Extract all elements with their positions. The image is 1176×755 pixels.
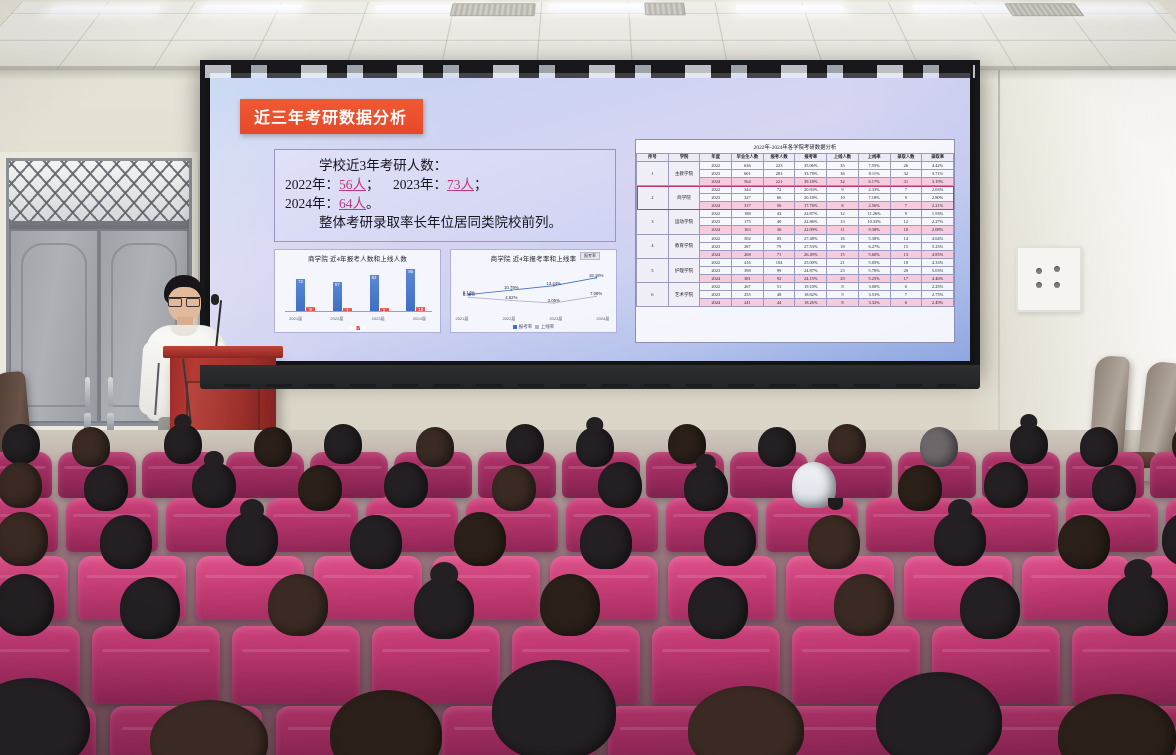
table-cell-admit-rate: 4.46% bbox=[922, 274, 954, 282]
control-knob-icon[interactable] bbox=[1054, 282, 1060, 288]
table-cell-admit-rate: 4.64% bbox=[922, 234, 954, 242]
table-cell-admit-rate: 1.93% bbox=[922, 210, 954, 218]
table-column-header: 上线率 bbox=[858, 154, 890, 162]
legend-swatch-pass-rate bbox=[535, 325, 539, 329]
table-cell-applied: 203 bbox=[763, 170, 795, 178]
label-2022: 2022年： bbox=[285, 177, 339, 192]
table-column-header: 年度 bbox=[700, 154, 732, 162]
table-cell-passed: 11 bbox=[827, 226, 859, 234]
table-cell-apply-rate: 26.49% bbox=[795, 250, 827, 258]
table-cell-graduates: 188 bbox=[732, 210, 764, 218]
audience-member-head bbox=[540, 574, 600, 636]
table-cell-admitted: 15 bbox=[890, 242, 922, 250]
presentation-slide: 近三年考研数据分析 学校近3年考研人数： 2022年：56人； 2023年：73… bbox=[210, 73, 970, 361]
table-cell-admitted: 9 bbox=[890, 210, 922, 218]
line-x-tick-label: 2023届 bbox=[549, 316, 562, 322]
table-cell-apply-rate: 24.87% bbox=[795, 266, 827, 274]
bar-chart-plot: 7296778229510 bbox=[285, 269, 432, 312]
line-chart-svg bbox=[459, 269, 608, 312]
table-cell-college: 艺术学院 bbox=[668, 282, 700, 306]
table-cell-apply-rate: 22.87% bbox=[795, 210, 827, 218]
table-cell-pass-rate: 5.05% bbox=[858, 258, 890, 266]
audience-member-head bbox=[808, 515, 860, 569]
bar-value-label: 72 bbox=[298, 280, 303, 285]
table-cell-pass-rate: 7.55% bbox=[858, 161, 890, 169]
table-cell-passed: 18 bbox=[827, 242, 859, 250]
table-column-header: 学院 bbox=[668, 154, 700, 162]
table-cell-graduates: 398 bbox=[732, 266, 764, 274]
table-cell-admit-rate: 2.27% bbox=[922, 218, 954, 226]
table-cell-applied: 71 bbox=[763, 250, 795, 258]
text-line-2024: 2024年：64人。 bbox=[285, 194, 605, 213]
table-cell-applied: 36 bbox=[763, 226, 795, 234]
table-cell-index: 3 bbox=[637, 210, 669, 234]
line-chart-card: 商学院 近4年报考率和上线率 报考率 8.14%10.79%13.44%18.1… bbox=[450, 249, 617, 333]
table-cell-year: 2022 bbox=[700, 161, 732, 169]
table-cell-admitted: 20 bbox=[890, 266, 922, 274]
ceiling-air-vent bbox=[450, 3, 536, 16]
audience-member-head bbox=[1080, 427, 1118, 467]
table-cell-graduates: 268 bbox=[732, 250, 764, 258]
auditorium-scene: 近三年考研数据分析 学校近3年考研人数： 2022年：56人； 2023年：73… bbox=[0, 0, 1176, 755]
table-cell-admitted: 18 bbox=[890, 258, 922, 266]
table-column-header: 报考率 bbox=[795, 154, 827, 162]
text-paragraph: 整体考研录取率长年位居同类院校前列。 bbox=[285, 213, 605, 232]
audience-seat[interactable] bbox=[1150, 452, 1176, 498]
door-handle-icon[interactable] bbox=[108, 377, 113, 407]
audience-member-head bbox=[934, 512, 986, 566]
table-cell-year: 2022 bbox=[700, 258, 732, 266]
table-cell-pass-rate: 5.30% bbox=[858, 234, 890, 242]
table-cell-college: 运动学院 bbox=[668, 210, 700, 234]
table-cell-year: 2022 bbox=[700, 282, 732, 290]
table-cell-admit-rate: 2.80% bbox=[922, 194, 954, 202]
table-cell-graduates: 416 bbox=[732, 258, 764, 266]
table-cell-graduates: 636 bbox=[732, 161, 764, 169]
table-cell-admit-rate: 2.21% bbox=[922, 202, 954, 210]
ceiling-air-vent bbox=[1004, 3, 1084, 16]
table-cell-index: 5 bbox=[637, 258, 669, 282]
table-cell-passed: 15 bbox=[827, 250, 859, 258]
bar-chart-legend: 报考人数 上线人数 bbox=[275, 325, 440, 330]
table-cell-year: 2024 bbox=[700, 226, 732, 234]
table-cell-admitted: 9 bbox=[890, 194, 922, 202]
table-cell-applied: 99 bbox=[763, 266, 795, 274]
bar-applied: 72 bbox=[296, 279, 305, 311]
audience-member-head bbox=[580, 515, 632, 569]
table-cell-pass-rate: 6.27% bbox=[858, 242, 890, 250]
audience-member-head bbox=[298, 465, 342, 511]
bar-value-label: 82 bbox=[372, 276, 377, 281]
audience-seat[interactable] bbox=[232, 626, 360, 704]
table-cell-passed: 12 bbox=[827, 210, 859, 218]
line-x-tick-label: 2024届 bbox=[596, 316, 609, 322]
table-cell-graduates: 381 bbox=[732, 274, 764, 282]
audience-member-head bbox=[226, 512, 278, 566]
table-cell-year: 2023 bbox=[700, 218, 732, 226]
table-cell-graduates: 327 bbox=[732, 194, 764, 202]
line-value-label: 3.05% bbox=[548, 298, 560, 303]
line-apply-rate bbox=[469, 278, 596, 295]
audience-member-head bbox=[2, 424, 40, 464]
table-cell-pass-rate: 10.33% bbox=[858, 218, 890, 226]
table-cell-year: 2024 bbox=[700, 202, 732, 210]
audience-member-head bbox=[350, 515, 402, 569]
table-cell-admit-rate: 2.08% bbox=[922, 226, 954, 234]
table-cell-passed: 8 bbox=[827, 202, 859, 210]
table-cell-pass-rate: 5.60% bbox=[858, 250, 890, 258]
table-cell-admitted: 10 bbox=[890, 226, 922, 234]
sep-3: 。 bbox=[366, 196, 380, 211]
value-2023: 73人 bbox=[447, 177, 474, 192]
table-cell-college: 商学院 bbox=[668, 186, 700, 210]
table-cell-pass-rate: 9.38% bbox=[858, 226, 890, 234]
table-column-header: 上线人数 bbox=[827, 154, 859, 162]
table-cell-passed: 32 bbox=[827, 178, 859, 186]
bar-passed: 10 bbox=[416, 307, 425, 311]
table-cell-year: 2024 bbox=[700, 299, 732, 307]
table-cell-passed: 23 bbox=[827, 266, 859, 274]
table-cell-admitted: 6 bbox=[890, 282, 922, 290]
line-x-tick-label: 2022届 bbox=[502, 316, 515, 322]
table-cell-pass-rate: 7.18% bbox=[858, 194, 890, 202]
line-value-label: 7.08% bbox=[590, 291, 602, 296]
table-cell-admitted: 12 bbox=[890, 218, 922, 226]
table-cell-year: 2024 bbox=[700, 250, 732, 258]
audience-member-head bbox=[704, 512, 756, 566]
audience-member-head bbox=[0, 462, 42, 508]
audience-member-head bbox=[960, 577, 1020, 639]
table-cell-college: 教育学院 bbox=[668, 234, 700, 258]
audience-member-head bbox=[898, 465, 942, 511]
text-heading: 学校近3年考研人数： bbox=[285, 156, 605, 175]
door-handle-icon[interactable] bbox=[85, 377, 90, 407]
table-cell-admitted: 14 bbox=[890, 234, 922, 242]
table-cell-admitted: 6 bbox=[890, 299, 922, 307]
door-panel bbox=[21, 243, 87, 407]
audience-member-head bbox=[688, 577, 748, 639]
table-cell-applied: 51 bbox=[763, 282, 795, 290]
audience-member-head bbox=[0, 574, 54, 636]
table-cell-apply-rate: 18.82% bbox=[795, 290, 827, 298]
bar-value-label: 95 bbox=[408, 270, 413, 275]
slide-data-table: 2022年-2024年各学院考研数据分析 序号学院年度毕业生人数报考人数报考率上… bbox=[636, 140, 954, 307]
table-cell-applied: 92 bbox=[763, 274, 795, 282]
legend-label-apply-rate: 报考率 bbox=[519, 324, 533, 329]
table-cell-year: 2024 bbox=[700, 274, 732, 282]
table-row: 3运动学院20221884322.87%1211.26%91.93% bbox=[637, 210, 954, 218]
table-cell-admit-rate: 2.25% bbox=[922, 282, 954, 290]
table-cell-passed: 13 bbox=[827, 218, 859, 226]
table-cell-graduates: 317 bbox=[732, 202, 764, 210]
table-cell-college: 护理学院 bbox=[668, 258, 700, 282]
table-cell-apply-rate: 19.10% bbox=[795, 282, 827, 290]
transom-window bbox=[9, 161, 189, 225]
audience-member-head bbox=[828, 424, 866, 464]
bar-x-tick-label: 2021届 bbox=[289, 316, 302, 322]
ceiling-light-panel bbox=[549, 4, 651, 11]
table-cell-admit-rate: 3.71% bbox=[922, 170, 954, 178]
audience-member-head bbox=[100, 515, 152, 569]
sep-1: ； bbox=[366, 177, 380, 192]
table-cell-admit-rate: 5.03% bbox=[922, 266, 954, 274]
audience-member-head bbox=[254, 427, 292, 467]
audience-member-head bbox=[454, 512, 506, 566]
table-cell-apply-rate: 27.53% bbox=[795, 242, 827, 250]
table-cell-applied: 56 bbox=[763, 202, 795, 210]
table-row: 2商学院20223447220.93%92.33%72.03% bbox=[637, 186, 954, 194]
table-cell-passed: 8 bbox=[827, 282, 859, 290]
audience-member-head bbox=[84, 465, 128, 511]
table-cell-admitted: 32 bbox=[890, 170, 922, 178]
bar-x-tick-label: 2022届 bbox=[330, 316, 343, 322]
wall-control-plate[interactable] bbox=[1016, 246, 1082, 312]
table-cell-admitted: 7 bbox=[890, 202, 922, 210]
table-cell-admit-rate: 3.19% bbox=[922, 178, 954, 186]
label-2023: 2023年： bbox=[393, 177, 447, 192]
table-cell-apply-rate: 27.48% bbox=[795, 234, 827, 242]
table-cell-graduates: 564 bbox=[732, 178, 764, 186]
audience-seat[interactable] bbox=[1072, 626, 1176, 704]
table-cell-passed: 9 bbox=[827, 290, 859, 298]
table-cell-graduates: 163 bbox=[732, 226, 764, 234]
table-cell-applied: 221 bbox=[763, 178, 795, 186]
bar-chart-card: 商学院 近4年报考人数和上线人数 7296778229510 报考人数 上线人数… bbox=[274, 249, 441, 333]
table-column-header: 序号 bbox=[637, 154, 669, 162]
display-bottom-bezel bbox=[200, 365, 980, 389]
table-cell-passed: 8 bbox=[827, 299, 859, 307]
audience-member-head bbox=[324, 424, 362, 464]
value-2022: 56人 bbox=[339, 177, 366, 192]
table-row: 5护理学院202241610425.00%215.05%184.33% bbox=[637, 258, 954, 266]
table-cell-apply-rate: 33.78% bbox=[795, 170, 827, 178]
bar-value-label: 7 bbox=[346, 309, 349, 314]
table-cell-passed: 20 bbox=[827, 274, 859, 282]
table-college-group: 2商学院20223447220.93%92.33%72.03%202332766… bbox=[637, 186, 954, 210]
ceiling-light-panel bbox=[912, 5, 1013, 12]
table-cell-applied: 43 bbox=[763, 210, 795, 218]
table-cell-applied: 48 bbox=[763, 290, 795, 298]
audience-member-head bbox=[920, 427, 958, 467]
bar-group: 729 bbox=[296, 279, 315, 311]
audience-member-head bbox=[416, 427, 454, 467]
audience-member-head bbox=[492, 465, 536, 511]
table-cell-pass-rate: 2.56% bbox=[858, 202, 890, 210]
line-value-label: 4.62% bbox=[505, 295, 517, 300]
table-column-header: 录取人数 bbox=[890, 154, 922, 162]
table-cell-year: 2022 bbox=[700, 210, 732, 218]
bar-value-label: 67 bbox=[335, 283, 340, 288]
bar-group: 677 bbox=[333, 282, 352, 311]
table-cell-passed: 16 bbox=[827, 234, 859, 242]
table-cell-passed: 36 bbox=[827, 170, 859, 178]
table-cell-apply-rate: 17.76% bbox=[795, 202, 827, 210]
audience-member-head-foreground bbox=[492, 660, 616, 755]
table-college-group: 5护理学院202241610425.00%215.05%184.33%20233… bbox=[637, 258, 954, 282]
table-cell-index: 6 bbox=[637, 282, 669, 306]
table-column-header: 毕业生人数 bbox=[732, 154, 764, 162]
value-2024: 64人 bbox=[339, 196, 366, 211]
audience-member-head bbox=[0, 512, 48, 566]
audience-member-head bbox=[506, 424, 544, 464]
line-value-label: 18.18% bbox=[589, 273, 604, 278]
audience-member-head bbox=[120, 577, 180, 639]
table-cell-year: 2023 bbox=[700, 170, 732, 178]
table-cell-pass-rate: 2.33% bbox=[858, 186, 890, 194]
table-cell-admit-rate: 4.33% bbox=[922, 258, 954, 266]
bar-passed: 7 bbox=[343, 308, 352, 311]
audience-member-head bbox=[384, 462, 428, 508]
table-cell-applied: 83 bbox=[763, 234, 795, 242]
table-cell-graduates: 302 bbox=[732, 234, 764, 242]
slide-data-table-wrap: 2022年-2024年各学院考研数据分析 序号学院年度毕业生人数报考人数报考率上… bbox=[635, 139, 955, 343]
bar-value-label: 2 bbox=[383, 309, 386, 314]
table-cell-apply-rate: 20.18% bbox=[795, 194, 827, 202]
sep-2: ； bbox=[474, 177, 488, 192]
table-cell-apply-rate: 25.00% bbox=[795, 258, 827, 266]
table-cell-admitted: 17 bbox=[890, 274, 922, 282]
table-cell-passed: 35 bbox=[827, 161, 859, 169]
control-knob-icon[interactable] bbox=[1054, 266, 1060, 272]
table-cell-graduates: 175 bbox=[732, 218, 764, 226]
table-cell-graduates: 255 bbox=[732, 290, 764, 298]
door-lock-icon[interactable] bbox=[107, 413, 114, 431]
legend-label-passed: 上线人数 bbox=[349, 326, 367, 331]
table-cell-passed: 10 bbox=[827, 194, 859, 202]
table-cell-year: 2022 bbox=[700, 186, 732, 194]
line-value-label: 13.44% bbox=[546, 281, 561, 286]
audience-member-head bbox=[192, 462, 236, 508]
table-cell-passed: 9 bbox=[827, 186, 859, 194]
bar-passed: 2 bbox=[380, 308, 389, 311]
line-value-label: 10.79% bbox=[504, 285, 519, 290]
table-cell-applied: 66 bbox=[763, 194, 795, 202]
table-cell-apply-rate: 18.26% bbox=[795, 299, 827, 307]
bar-applied: 95 bbox=[406, 269, 415, 311]
bar-chart-title: 商学院 近4年报考人数和上线人数 bbox=[275, 253, 440, 263]
audience-member-head bbox=[984, 462, 1028, 508]
table-cell-pass-rate: 5.78% bbox=[858, 266, 890, 274]
table-row: 6艺术学院20222675119.10%83.00%62.25% bbox=[637, 282, 954, 290]
bar-x-tick-label: 2024届 bbox=[413, 316, 426, 322]
bar-applied: 67 bbox=[333, 282, 342, 311]
lattice-grille-icon bbox=[9, 161, 189, 221]
audience-member-head bbox=[72, 427, 110, 467]
table-caption: 2022年-2024年各学院考研数据分析 bbox=[636, 140, 954, 153]
table-cell-apply-rate: 35.06% bbox=[795, 161, 827, 169]
table-cell-apply-rate: 20.93% bbox=[795, 186, 827, 194]
table-cell-admit-rate: 4.42% bbox=[922, 161, 954, 169]
audience-member-head bbox=[598, 462, 642, 508]
table-cell-pass-rate: 8.11% bbox=[858, 170, 890, 178]
table-cell-applied: 79 bbox=[763, 242, 795, 250]
podium-top-surface bbox=[163, 346, 283, 358]
audience-member-head bbox=[1058, 515, 1110, 569]
table-cell-apply-rate: 24.15% bbox=[795, 274, 827, 282]
wall-display-screen[interactable]: 近三年考研数据分析 学校近3年考研人数： 2022年：56人； 2023年：73… bbox=[200, 60, 980, 372]
table-cell-admit-rate: 2.49% bbox=[922, 299, 954, 307]
audience-member-head bbox=[414, 577, 474, 639]
table-cell-applied: 104 bbox=[763, 258, 795, 266]
slide-title-banner: 近三年考研数据分析 bbox=[240, 99, 423, 134]
table-cell-apply-rate: 22.09% bbox=[795, 226, 827, 234]
table-cell-year: 2023 bbox=[700, 194, 732, 202]
table-college-group: 6艺术学院20222675119.10%83.00%62.25%20232554… bbox=[637, 282, 954, 306]
table-cell-admitted: 7 bbox=[890, 186, 922, 194]
table-cell-apply-rate: 39.18% bbox=[795, 178, 827, 186]
bar-group: 9510 bbox=[406, 269, 425, 311]
audience-member-head bbox=[1092, 465, 1136, 511]
table-cell-admitted: 26 bbox=[890, 161, 922, 169]
table-cell-college: 主教学院 bbox=[668, 161, 700, 185]
table-cell-apply-rate: 22.86% bbox=[795, 218, 827, 226]
table-college-group: 3运动学院20221884322.87%1211.26%91.93%202317… bbox=[637, 210, 954, 234]
line-x-tick-label: 2021届 bbox=[455, 316, 468, 322]
bar-passed: 9 bbox=[306, 307, 315, 311]
bar-chart-axis bbox=[285, 311, 432, 312]
table-cell-year: 2023 bbox=[700, 242, 732, 250]
slide-text-block: 学校近3年考研人数： 2022年：56人； 2023年：73人； 2024年：6… bbox=[274, 149, 616, 242]
ceiling-light-panel bbox=[735, 6, 845, 13]
table-cell-pass-rate: 3.53% bbox=[858, 290, 890, 298]
table-cell-admitted: 31 bbox=[890, 178, 922, 186]
table-cell-graduates: 287 bbox=[732, 242, 764, 250]
audience-member-head bbox=[1108, 574, 1168, 636]
wall-corner-edge bbox=[998, 62, 1000, 462]
table-college-group: 1主教学院202263622335.06%357.55%264.42%20236… bbox=[637, 161, 954, 185]
table-cell-admit-rate: 2.75% bbox=[922, 290, 954, 298]
table-cell-year: 2022 bbox=[700, 234, 732, 242]
table-cell-index: 1 bbox=[637, 161, 669, 185]
ceiling-air-vent bbox=[644, 3, 686, 16]
control-knob-icon[interactable] bbox=[1036, 282, 1042, 288]
audience-member-head bbox=[758, 427, 796, 467]
table-row: 1主教学院202263622335.06%357.55%264.42% bbox=[637, 161, 954, 169]
table-cell-year: 2023 bbox=[700, 266, 732, 274]
table-cell-passed: 21 bbox=[827, 258, 859, 266]
ceiling-light-panel bbox=[48, 6, 161, 13]
table-cell-admit-rate: 5.23% bbox=[922, 242, 954, 250]
line-chart-legend: 报考率 上线率 bbox=[451, 324, 616, 330]
table-column-header: 录取率 bbox=[922, 154, 954, 162]
table-cell-pass-rate: 5.25% bbox=[858, 274, 890, 282]
audience-member-head bbox=[164, 424, 202, 464]
bar-x-tick-label: 2023届 bbox=[372, 316, 385, 322]
label-2024: 2024年： bbox=[285, 196, 339, 211]
bar-group: 822 bbox=[370, 275, 389, 311]
audience-member-head bbox=[268, 574, 328, 636]
table-cell-graduates: 241 bbox=[732, 299, 764, 307]
line-chart-annotation: 报考率 bbox=[580, 252, 600, 260]
table-cell-applied: 40 bbox=[763, 218, 795, 226]
table-cell-index: 4 bbox=[637, 234, 669, 258]
table-cell-pass-rate: 11.26% bbox=[858, 210, 890, 218]
table-head: 序号学院年度毕业生人数报考人数报考率上线人数上线率录取人数录取率 bbox=[637, 154, 954, 162]
audience-member-head bbox=[834, 574, 894, 636]
control-knob-icon[interactable] bbox=[1036, 268, 1042, 274]
table-cell-admit-rate: 2.03% bbox=[922, 186, 954, 194]
table-cell-graduates: 601 bbox=[732, 170, 764, 178]
bar-value-label: 9 bbox=[309, 308, 312, 313]
line-pass-rate bbox=[469, 296, 596, 303]
table-header-row: 序号学院年度毕业生人数报考人数报考率上线人数上线率录取人数录取率 bbox=[637, 154, 954, 162]
table-cell-applied: 44 bbox=[763, 299, 795, 307]
bar-value-label: 10 bbox=[418, 308, 423, 313]
microphone-head-icon bbox=[211, 294, 219, 305]
table-cell-pass-rate: 3.00% bbox=[858, 282, 890, 290]
ceiling-light-panel bbox=[201, 5, 303, 12]
table-cell-pass-rate: 3.32% bbox=[858, 299, 890, 307]
